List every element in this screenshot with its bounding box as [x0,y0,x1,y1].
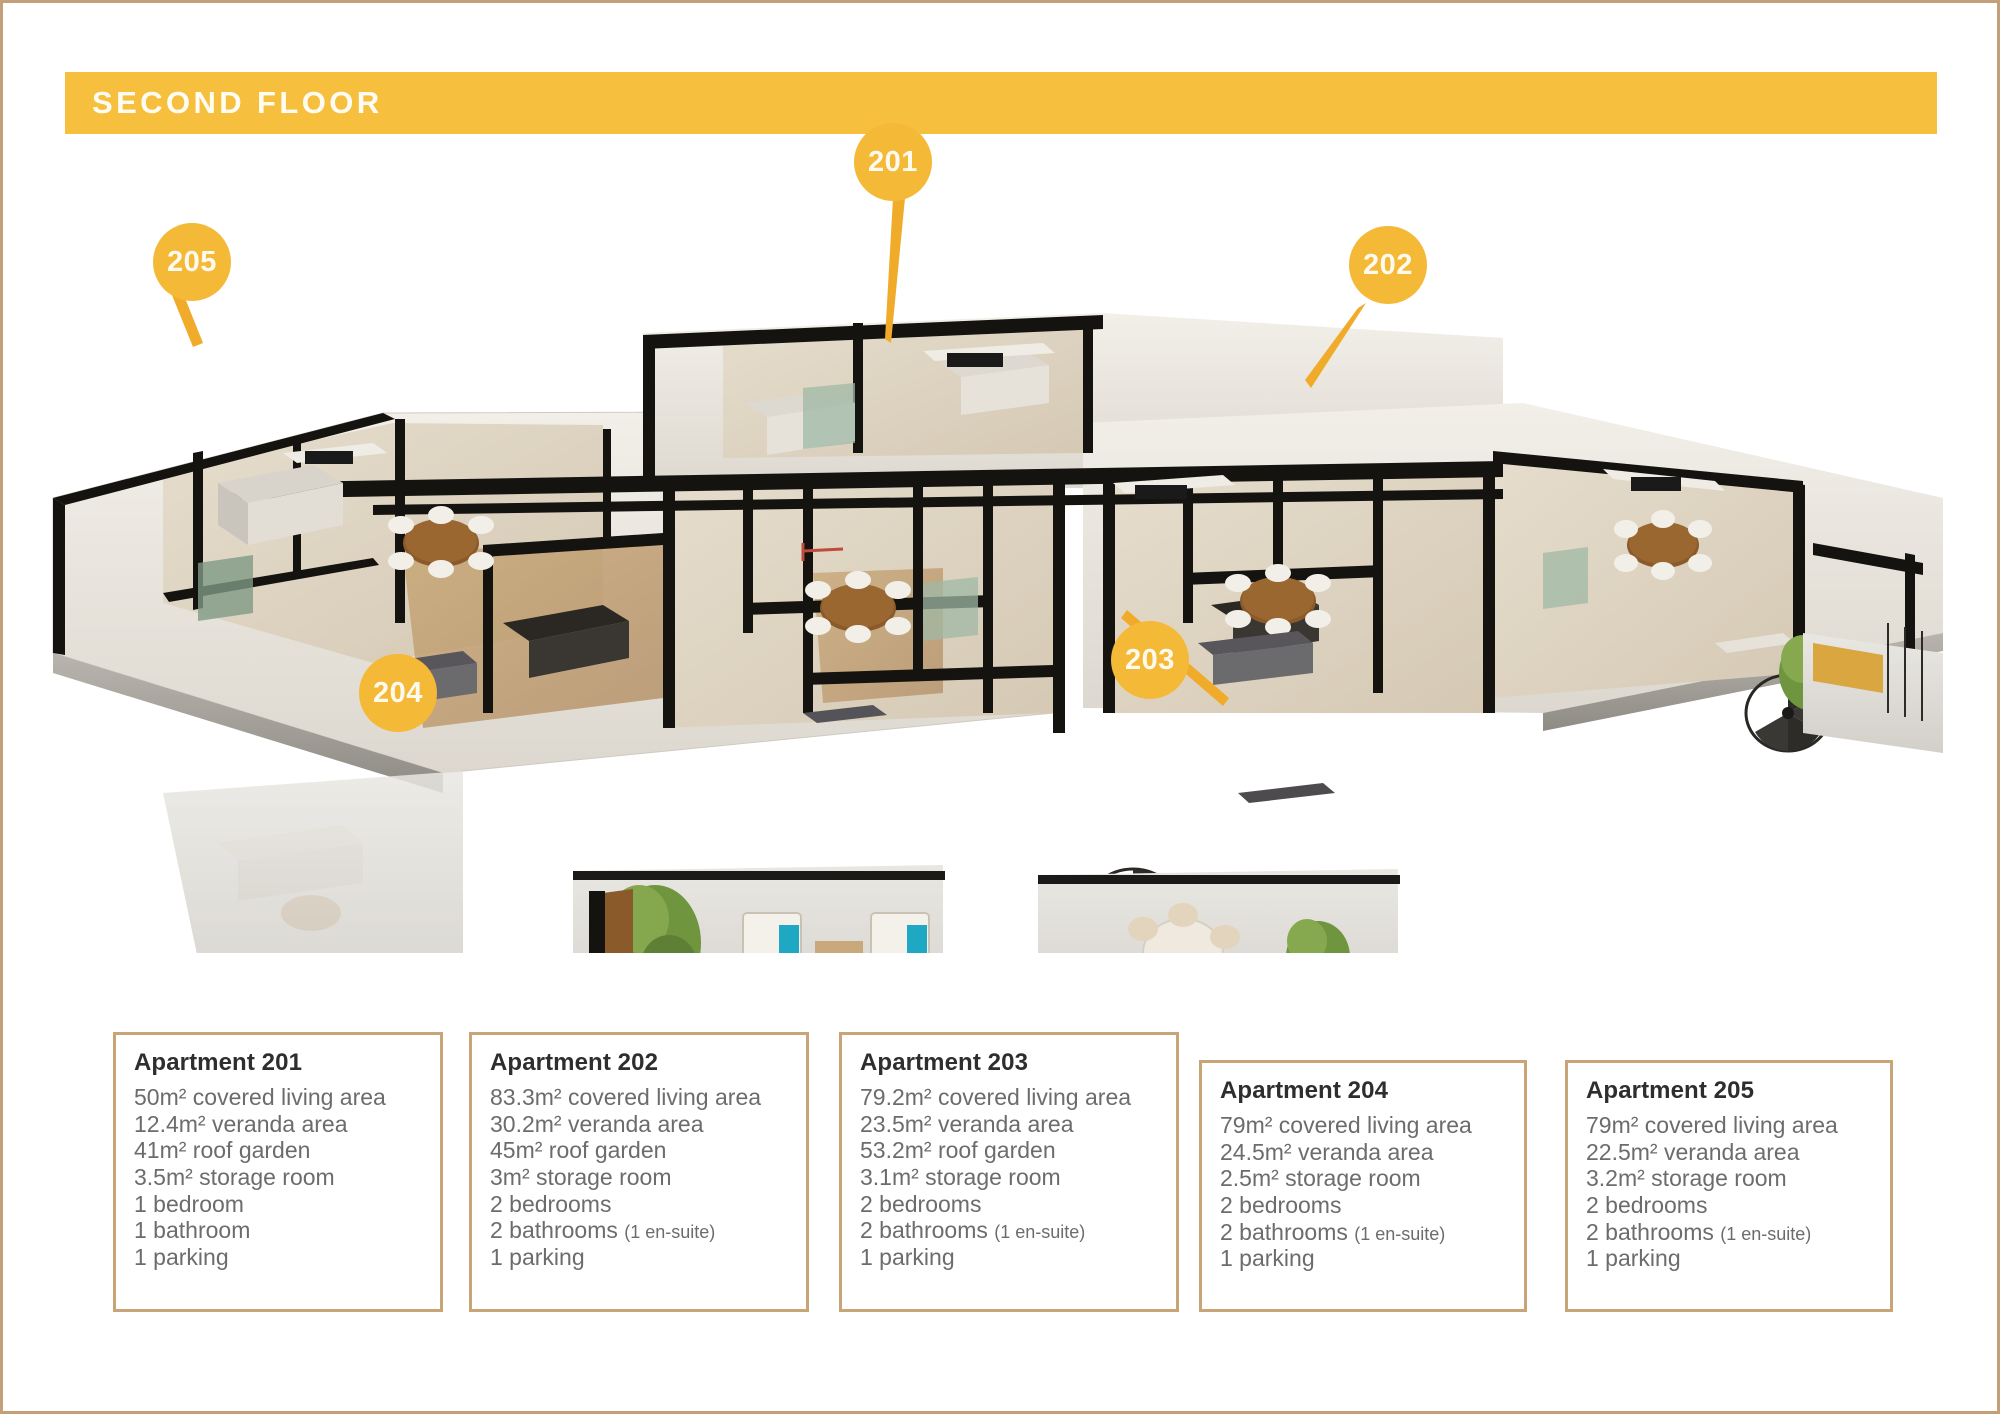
floor-plan-render: 201 202 203 204 205 [43,153,1973,953]
apartment-card-201-line-3: 41m² roof garden [134,1137,422,1164]
apartment-card-203-line-3: 53.2m² roof garden [860,1137,1158,1164]
apartment-card-204-line-6: 1 parking [1220,1245,1506,1272]
apartment-card-203-line-6: 2 bathrooms (1 en-suite) [860,1217,1158,1244]
apartment-marker-201-label: 201 [868,146,918,179]
apartment-card-203-line-6-sub: (1 en-suite) [994,1222,1085,1242]
floor-plan-page: SECOND FLOOR [0,0,2000,1414]
apartment-marker-202[interactable]: 202 [1349,226,1427,304]
apartment-marker-205[interactable]: 205 [153,223,231,301]
apartment-card-205-line-5-main: 2 bathrooms [1586,1219,1720,1245]
apartment-card-204-line-2: 24.5m² veranda area [1220,1139,1506,1166]
apartment-card-201-title: Apartment 201 [134,1049,422,1077]
apartment-card-203-line-5: 2 bedrooms [860,1191,1158,1218]
apartment-card-204-line-5: 2 bathrooms (1 en-suite) [1220,1219,1506,1246]
apartment-details-row: Apartment 201 50m² covered living area 1… [3,1013,2000,1363]
apartment-card-201-line-4: 3.5m² storage room [134,1164,422,1191]
apartment-marker-201[interactable]: 201 [854,123,932,201]
apartment-card-205-line-3: 3.2m² storage room [1586,1165,1872,1192]
apartment-card-203-line-6-main: 2 bathrooms [860,1217,994,1243]
apartment-marker-203-label: 203 [1125,644,1175,677]
apartment-card-205: Apartment 205 79m² covered living area 2… [1565,1060,1893,1312]
marker-leader-lines [43,153,1973,953]
apartment-card-203-title: Apartment 203 [860,1049,1158,1077]
apartment-card-205-line-1: 79m² covered living area [1586,1112,1872,1139]
apartment-card-202: Apartment 202 83.3m² covered living area… [469,1032,809,1312]
apartment-card-203-line-2: 23.5m² veranda area [860,1111,1158,1138]
apartment-card-202-line-6-main: 2 bathrooms [490,1217,624,1243]
apartment-card-201-line-7: 1 parking [134,1244,422,1271]
apartment-card-202-line-5: 2 bedrooms [490,1191,788,1218]
apartment-card-201-line-6: 1 bathroom [134,1217,422,1244]
apartment-marker-202-label: 202 [1363,249,1413,282]
apartment-card-202-line-4: 3m² storage room [490,1164,788,1191]
apartment-card-205-line-5: 2 bathrooms (1 en-suite) [1586,1219,1872,1246]
apartment-card-202-line-3: 45m² roof garden [490,1137,788,1164]
apartment-card-201-line-1: 50m² covered living area [134,1084,422,1111]
apartment-marker-205-label: 205 [167,246,217,279]
apartment-card-204: Apartment 204 79m² covered living area 2… [1199,1060,1527,1312]
apartment-card-202-title: Apartment 202 [490,1049,788,1077]
apartment-card-205-line-6: 1 parking [1586,1245,1872,1272]
apartment-card-201: Apartment 201 50m² covered living area 1… [113,1032,443,1312]
apartment-card-204-title: Apartment 204 [1220,1077,1506,1105]
apartment-card-205-line-4: 2 bedrooms [1586,1192,1872,1219]
apartment-card-204-line-5-main: 2 bathrooms [1220,1219,1354,1245]
apartment-card-203-line-4: 3.1m² storage room [860,1164,1158,1191]
apartment-card-202-line-2: 30.2m² veranda area [490,1111,788,1138]
apartment-card-203-line-7: 1 parking [860,1244,1158,1271]
apartment-card-201-line-5: 1 bedroom [134,1191,422,1218]
apartment-marker-203[interactable]: 203 [1111,621,1189,699]
apartment-card-205-line-2: 22.5m² veranda area [1586,1139,1872,1166]
apartment-card-203-line-1: 79.2m² covered living area [860,1084,1158,1111]
apartment-card-201-line-2: 12.4m² veranda area [134,1111,422,1138]
apartment-card-205-line-5-sub: (1 en-suite) [1720,1224,1811,1244]
page-title: SECOND FLOOR [65,85,383,121]
apartment-card-202-line-6-sub: (1 en-suite) [624,1222,715,1242]
apartment-card-204-line-5-sub: (1 en-suite) [1354,1224,1445,1244]
apartment-marker-204-label: 204 [373,677,423,710]
apartment-marker-204[interactable]: 204 [359,654,437,732]
apartment-card-204-line-3: 2.5m² storage room [1220,1165,1506,1192]
apartment-card-203: Apartment 203 79.2m² covered living area… [839,1032,1179,1312]
leader-line-201 [885,198,905,343]
apartment-card-202-line-1: 83.3m² covered living area [490,1084,788,1111]
apartment-card-204-line-1: 79m² covered living area [1220,1112,1506,1139]
leader-line-202 [1305,303,1366,388]
apartment-card-202-line-7: 1 parking [490,1244,788,1271]
apartment-card-205-title: Apartment 205 [1586,1077,1872,1105]
floor-title-banner: SECOND FLOOR [65,72,1937,134]
apartment-card-202-line-6: 2 bathrooms (1 en-suite) [490,1217,788,1244]
apartment-card-204-line-4: 2 bedrooms [1220,1192,1506,1219]
